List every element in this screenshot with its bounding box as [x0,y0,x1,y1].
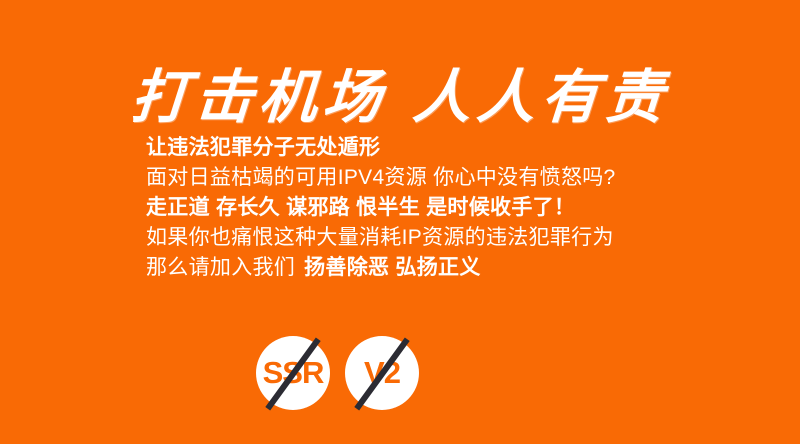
headline-part-1: 打击机场 [129,63,390,131]
headline-part-2: 人人有责 [411,63,672,131]
body-copy: 让违法犯罪分子无处遁形 面对日益枯竭的可用IPV4资源 你心中没有愤怒吗? 走正… [146,133,706,283]
poster-canvas: 打击机场人人有责 让违法犯罪分子无处遁形 面对日益枯竭的可用IPV4资源 你心中… [0,0,800,444]
copy-line-5-plain: 那么请加入我们 [146,256,295,279]
page-title: 打击机场人人有责 [0,62,800,132]
copy-line-5-bold: 扬善除恶 弘扬正义 [304,256,481,279]
no-v2-ban-icon: V2 [345,336,419,410]
copy-line-5: 那么请加入我们扬善除恶 弘扬正义 [146,253,706,283]
copy-line-4: 如果你也痛恨这种大量消耗IP资源的违法犯罪行为 [146,223,706,253]
copy-line-3: 走正道 存长久 谋邪路 恨半生 是时候收手了！ [146,193,706,223]
icon-row: SSR V2 [0,330,800,430]
copy-line-2: 面对日益枯竭的可用IPV4资源 你心中没有愤怒吗? [146,163,706,193]
copy-line-1: 让违法犯罪分子无处遁形 [146,133,706,163]
no-ssr-ban-icon: SSR [256,336,330,410]
